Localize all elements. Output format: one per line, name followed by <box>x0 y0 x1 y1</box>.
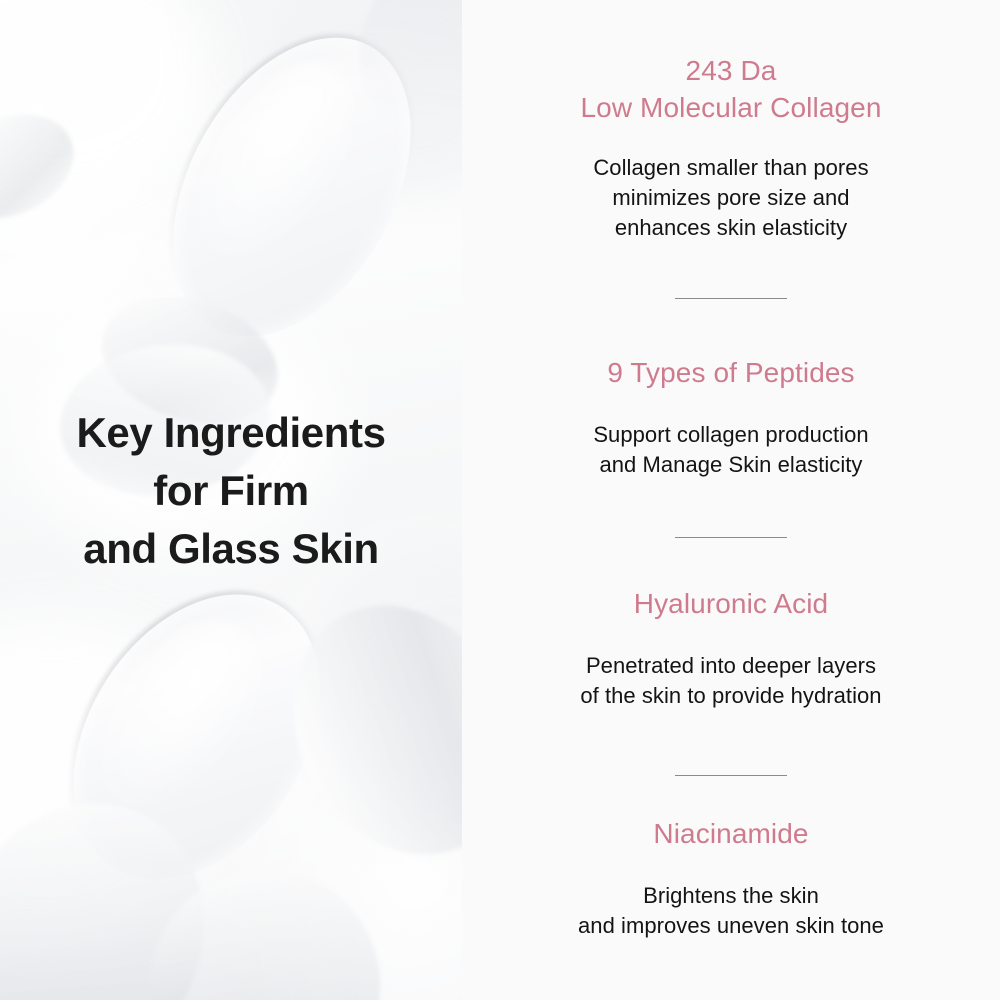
ingredient-title-line-2: Low Molecular Collagen <box>462 89 1000 126</box>
ingredient-block-hyaluronic-acid: Hyaluronic Acid Penetrated into deeper l… <box>462 585 1000 711</box>
cream-texture-image: Key Ingredients for Firm and Glass Skin <box>0 0 462 1000</box>
infographic-canvas: Key Ingredients for Firm and Glass Skin … <box>0 0 1000 1000</box>
ingredient-title-hyaluronic-acid: Hyaluronic Acid <box>462 585 1000 622</box>
ingredient-title-niacinamide: Niacinamide <box>462 815 1000 852</box>
ingredient-title-peptides: 9 Types of Peptides <box>462 354 1000 391</box>
ingredient-block-collagen: 243 Da Low Molecular Collagen Collagen s… <box>462 52 1000 243</box>
ingredient-title-line-1: 243 Da <box>462 52 1000 89</box>
ingredient-body-hyaluronic-acid: Penetrated into deeper layers of the ski… <box>462 651 1000 711</box>
section-divider-1 <box>675 298 787 299</box>
ingredient-body-peptides: Support collagen production and Manage S… <box>462 420 1000 480</box>
ingredient-block-peptides: 9 Types of Peptides Support collagen pro… <box>462 354 1000 480</box>
ingredient-body-line-1: Support collagen production <box>462 420 1000 450</box>
page-title: Key Ingredients for Firm and Glass Skin <box>0 404 462 578</box>
ingredient-body-line-1: Brightens the skin <box>462 881 1000 911</box>
ingredient-title-line-1: Niacinamide <box>462 815 1000 852</box>
ingredient-body-niacinamide: Brightens the skin and improves uneven s… <box>462 881 1000 941</box>
ingredient-body-line-2: minimizes pore size and <box>462 183 1000 213</box>
page-title-line-2: for Firm <box>0 462 462 520</box>
ingredient-title-collagen: 243 Da Low Molecular Collagen <box>462 52 1000 126</box>
section-divider-2 <box>675 537 787 538</box>
ingredient-body-line-3: enhances skin elasticity <box>462 213 1000 243</box>
ingredient-title-line-1: Hyaluronic Acid <box>462 585 1000 622</box>
ingredient-title-line-1: 9 Types of Peptides <box>462 354 1000 391</box>
page-title-line-1: Key Ingredients <box>0 404 462 462</box>
ingredients-panel: 243 Da Low Molecular Collagen Collagen s… <box>462 0 1000 1000</box>
ingredient-body-line-1: Penetrated into deeper layers <box>462 651 1000 681</box>
ingredient-block-niacinamide: Niacinamide Brightens the skin and impro… <box>462 815 1000 941</box>
ingredient-body-line-1: Collagen smaller than pores <box>462 153 1000 183</box>
page-title-line-3: and Glass Skin <box>0 520 462 578</box>
ingredient-body-line-2: of the skin to provide hydration <box>462 681 1000 711</box>
section-divider-3 <box>675 775 787 776</box>
ingredient-body-collagen: Collagen smaller than pores minimizes po… <box>462 153 1000 243</box>
ingredient-body-line-2: and improves uneven skin tone <box>462 911 1000 941</box>
ingredient-body-line-2: and Manage Skin elasticity <box>462 450 1000 480</box>
